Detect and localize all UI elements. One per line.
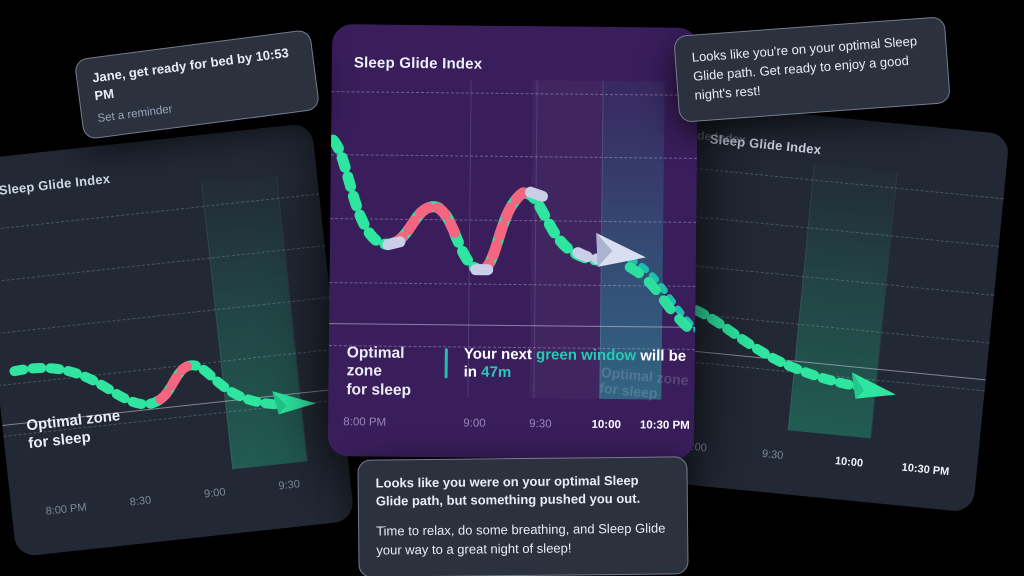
optimal-zone-caption-center: Optimal zone for sleep: [346, 344, 429, 400]
axis-tick: 10:00: [591, 419, 621, 431]
app-root: Sleep Glide Index Optimal zone for sleep…: [0, 0, 1024, 576]
axis-tick: 10:30 PM: [640, 419, 690, 432]
chart-plot-area-right: [660, 151, 1005, 449]
card-title-center: Sleep Glide Index: [354, 54, 483, 72]
sleep-glide-card-right[interactable]: Sleep Glide Index 9:00 9:30 10:00 10:30 …: [654, 103, 1010, 512]
tooltip-on-track[interactable]: Looks like you're on your optimal Sleep …: [673, 16, 951, 122]
axis-tick: 8:00 PM: [45, 501, 87, 517]
tooltip-paragraph-2: Time to relax, do some breathing, and Sl…: [376, 519, 670, 560]
sleep-glide-curve-right: [660, 151, 1005, 449]
tooltip-message: Looks like you're on your optimal Sleep …: [691, 31, 933, 105]
axis-tick: 9:30: [761, 448, 783, 462]
axis-tick: 9:00: [204, 486, 227, 500]
next-window-time: 47m: [481, 364, 511, 381]
axis-tick: 9:30: [529, 418, 552, 430]
axis-tick: 8:00 PM: [343, 416, 386, 428]
caption-divider: [445, 348, 448, 378]
tooltip-paragraph-1: Looks like you were on your optimal Slee…: [376, 471, 670, 511]
next-window-highlight: green window: [536, 346, 636, 364]
tooltip-off-track[interactable]: Looks like you were on your optimal Slee…: [357, 456, 688, 576]
sleep-glide-card-left[interactable]: Sleep Glide Index Optimal zone for sleep…: [0, 123, 355, 557]
paper-plane-icon: [272, 387, 316, 415]
x-axis-center: 8:00 PM 9:00 9:30 10:00 10:30 PM: [328, 416, 694, 438]
axis-tick: 10:00: [834, 455, 863, 470]
paper-plane-icon: [849, 372, 897, 402]
axis-tick: 10:30 PM: [901, 462, 950, 479]
axis-tick: 8:30: [129, 494, 152, 508]
tooltip-bedtime-reminder[interactable]: Jane, get ready for bed by 10:53 PM Set …: [74, 29, 320, 140]
axis-tick: 9:30: [278, 478, 301, 492]
next-window-prefix: Your next: [464, 345, 536, 363]
axis-tick: 9:00: [463, 417, 486, 429]
paper-plane-icon: [596, 233, 646, 268]
x-axis-right: 9:00 9:30 10:00 10:30 PM: [657, 438, 977, 487]
